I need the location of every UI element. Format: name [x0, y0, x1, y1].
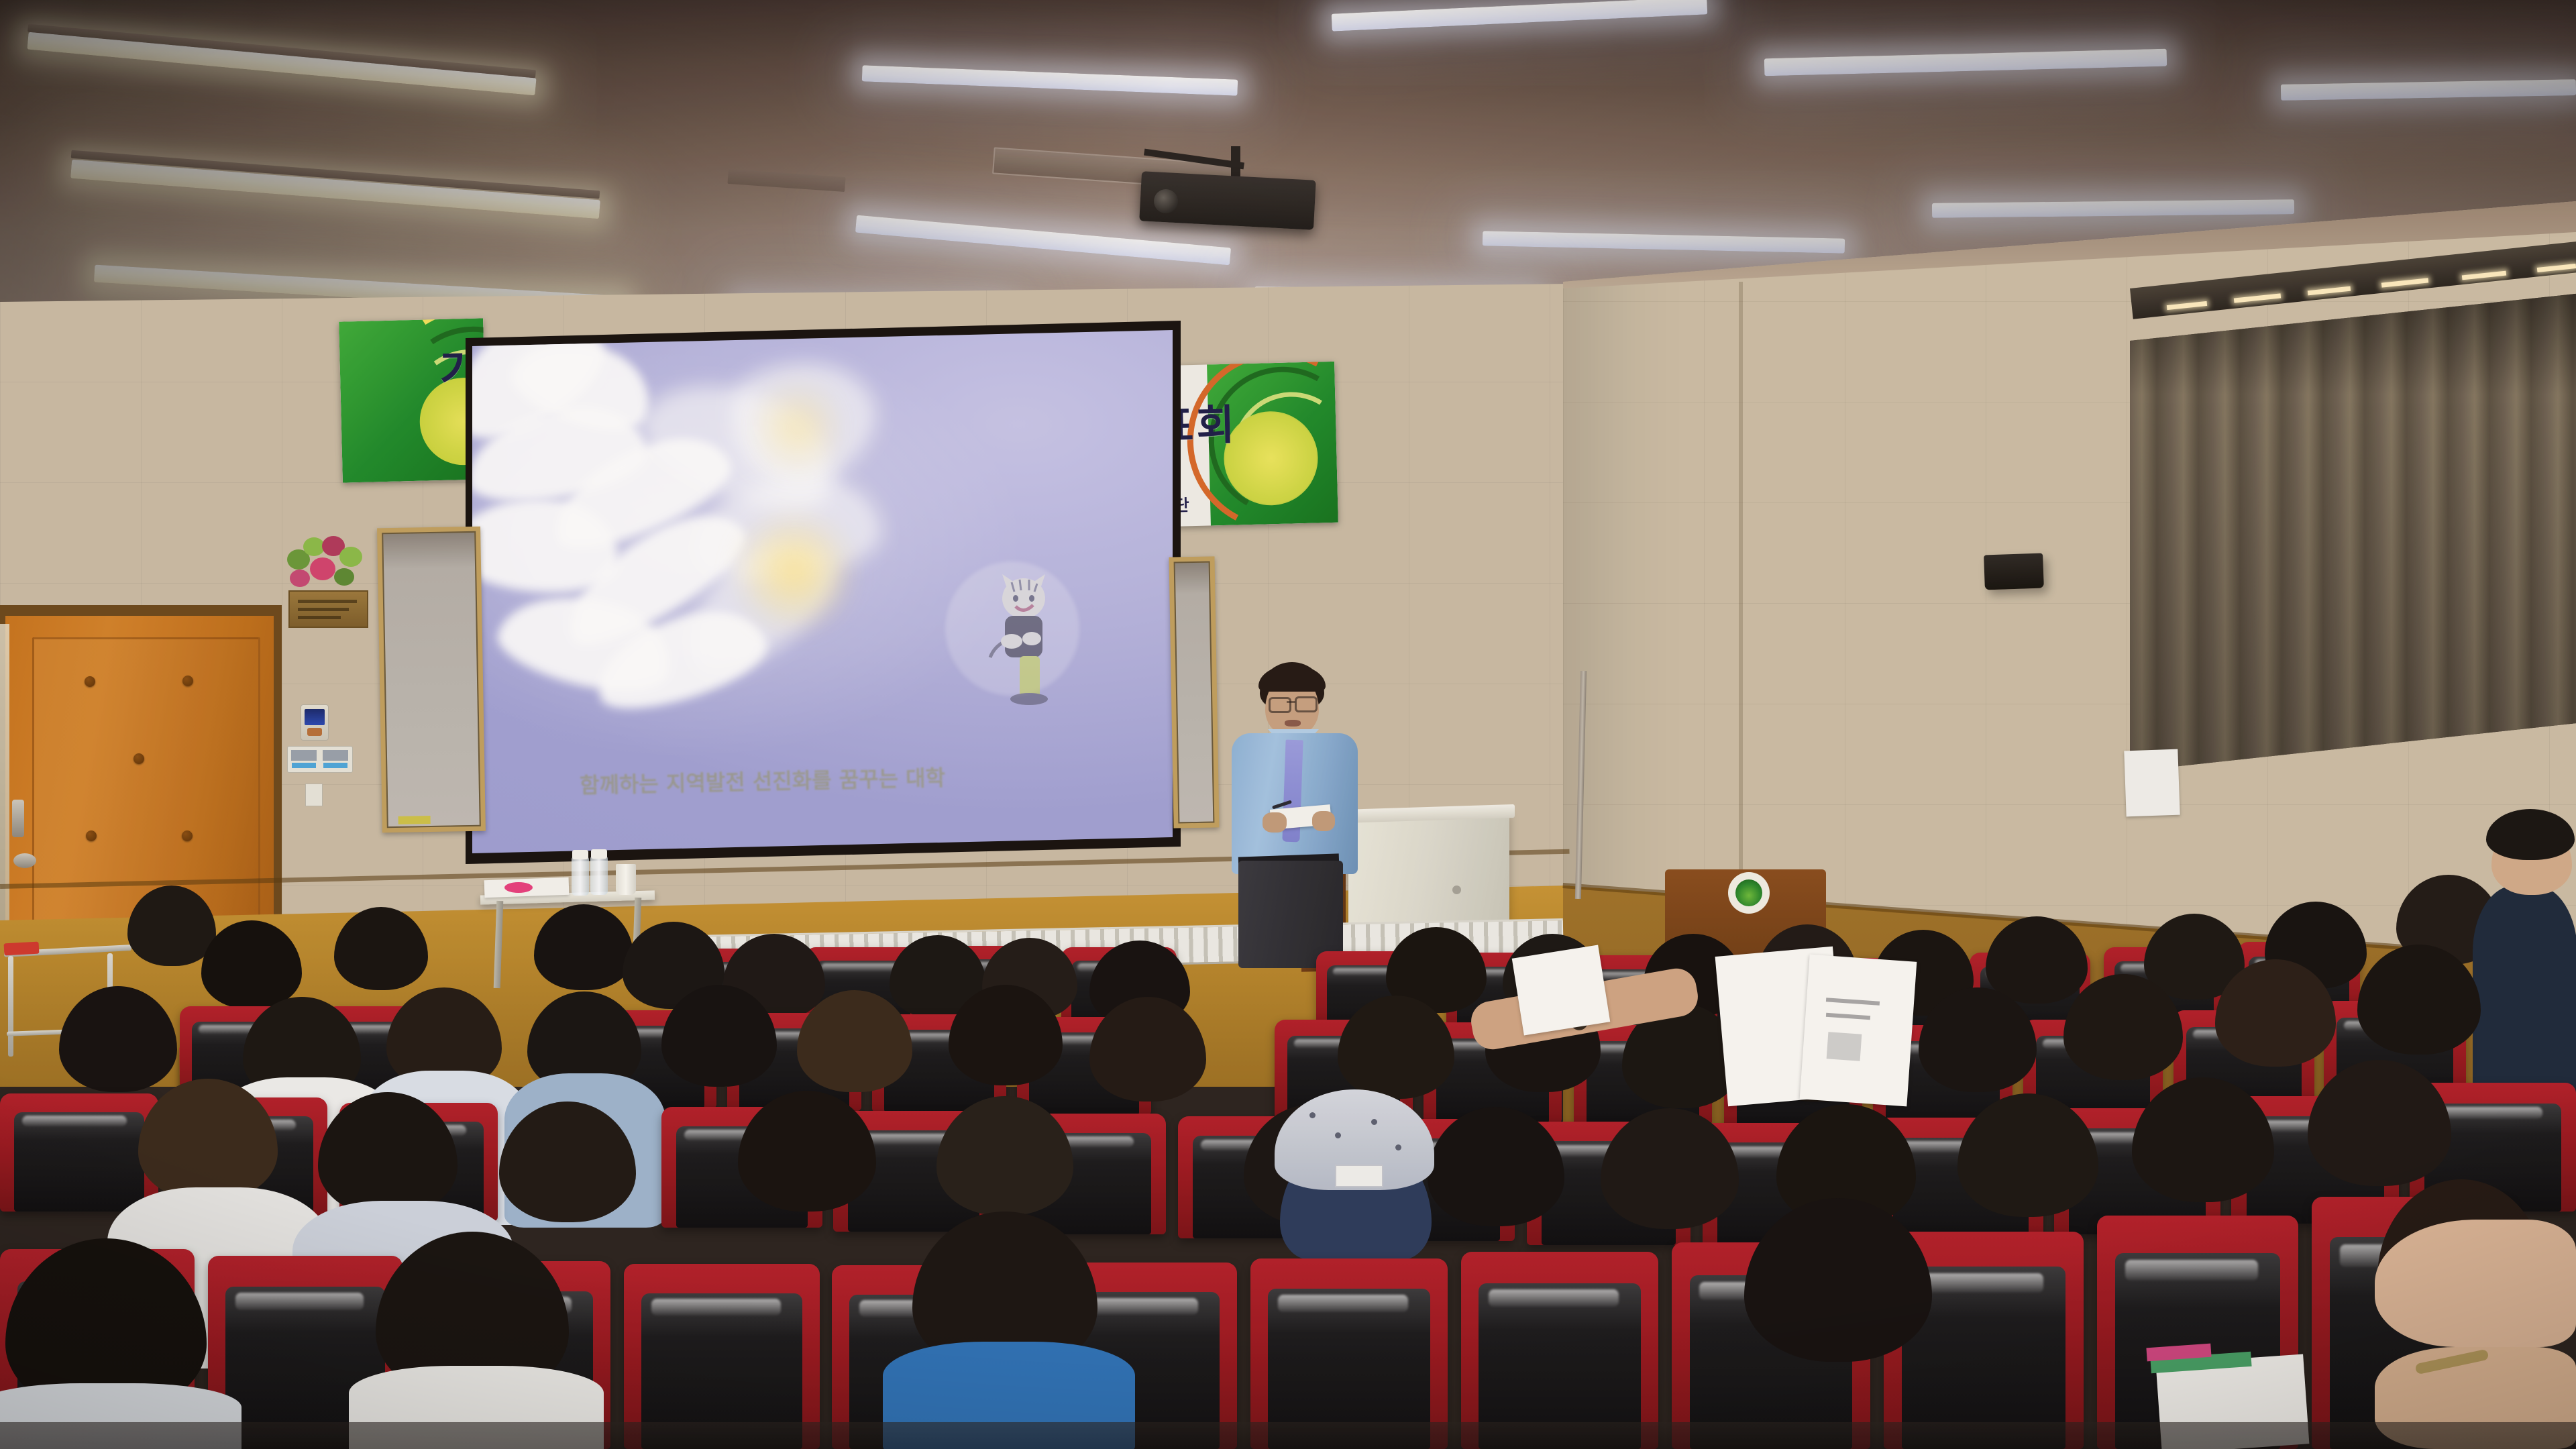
presenter-hair-top — [1258, 665, 1326, 692]
presenter — [1201, 654, 1415, 969]
ceiling-light — [27, 32, 536, 96]
notice-tag — [398, 816, 431, 824]
door-stud — [133, 753, 144, 764]
seat[interactable] — [0, 1093, 158, 1212]
ceiling-light — [1764, 49, 2167, 76]
light-housing — [71, 150, 600, 199]
presenter-hand — [1263, 812, 1287, 833]
ceiling-light — [2281, 79, 2576, 101]
audience-body — [2473, 885, 2576, 1107]
outlet-plate[interactable] — [305, 784, 323, 806]
projector-mount — [1231, 146, 1240, 177]
paper-figure — [1827, 1032, 1862, 1061]
water-bottle — [590, 856, 608, 895]
floor — [0, 1422, 2576, 1449]
seat[interactable] — [1461, 1252, 1658, 1449]
seat[interactable] — [624, 1264, 820, 1449]
seat[interactable] — [1250, 1258, 1448, 1449]
wall-plaque — [288, 590, 368, 628]
door-handle[interactable] — [12, 800, 24, 837]
wall-notice-paper — [2124, 749, 2180, 817]
presenter-glasses — [1295, 696, 1318, 712]
ceiling-projector — [1139, 171, 1316, 230]
light-housing — [28, 24, 536, 78]
flower-center — [754, 370, 841, 484]
wall-speaker — [1984, 553, 2044, 590]
ceiling-light — [1932, 199, 2294, 218]
presenter-mouth — [1285, 720, 1301, 727]
presenter-glasses — [1269, 697, 1291, 713]
door-stud — [182, 830, 193, 841]
handout-paper — [1512, 945, 1611, 1036]
audience-member-with-cap — [1271, 1071, 1438, 1258]
podium-emblem — [1728, 872, 1770, 914]
ceiling-light — [855, 215, 1231, 266]
presenter-hand — [1312, 811, 1335, 831]
ceiling-light — [1483, 231, 1845, 253]
bottle-cap — [572, 850, 588, 859]
projection-screen[interactable]: 함께하는 지역발전 선진화를 꿈꾸는 대학 — [472, 330, 1173, 853]
cap-label — [1335, 1165, 1383, 1187]
ceiling-fixture — [727, 169, 845, 192]
tiger-mascot-icon — [982, 572, 1063, 706]
door-stud — [85, 676, 95, 687]
door-stud — [182, 676, 193, 686]
door-lock[interactable] — [13, 853, 36, 868]
ceiling-light — [70, 160, 600, 219]
notice-board[interactable] — [377, 527, 486, 833]
ceiling-light — [1332, 0, 1708, 32]
flower-center — [734, 504, 855, 639]
document-stamp — [504, 882, 533, 893]
paper-cup — [616, 864, 636, 895]
light-switch-panel[interactable] — [287, 746, 353, 773]
wall-control-panel[interactable] — [301, 704, 329, 741]
ceiling-vent — [992, 147, 1238, 191]
window-curtain — [2130, 288, 2576, 771]
projector-lens — [1154, 189, 1178, 213]
door-stud — [86, 830, 97, 841]
handout-paper — [1800, 955, 1917, 1107]
water-bottle — [572, 857, 589, 896]
event-banner-left: 기 — [339, 318, 487, 482]
ceiling-light — [862, 65, 1238, 95]
glasses-bridge — [1287, 701, 1295, 703]
audience-arm — [2375, 1220, 2576, 1347]
auditorium-photo: 기 발표회 국연구재단 — [0, 0, 2576, 1449]
projector-arm — [1144, 149, 1244, 170]
bottle-cap — [591, 849, 607, 859]
podium-knob — [1452, 885, 1461, 894]
